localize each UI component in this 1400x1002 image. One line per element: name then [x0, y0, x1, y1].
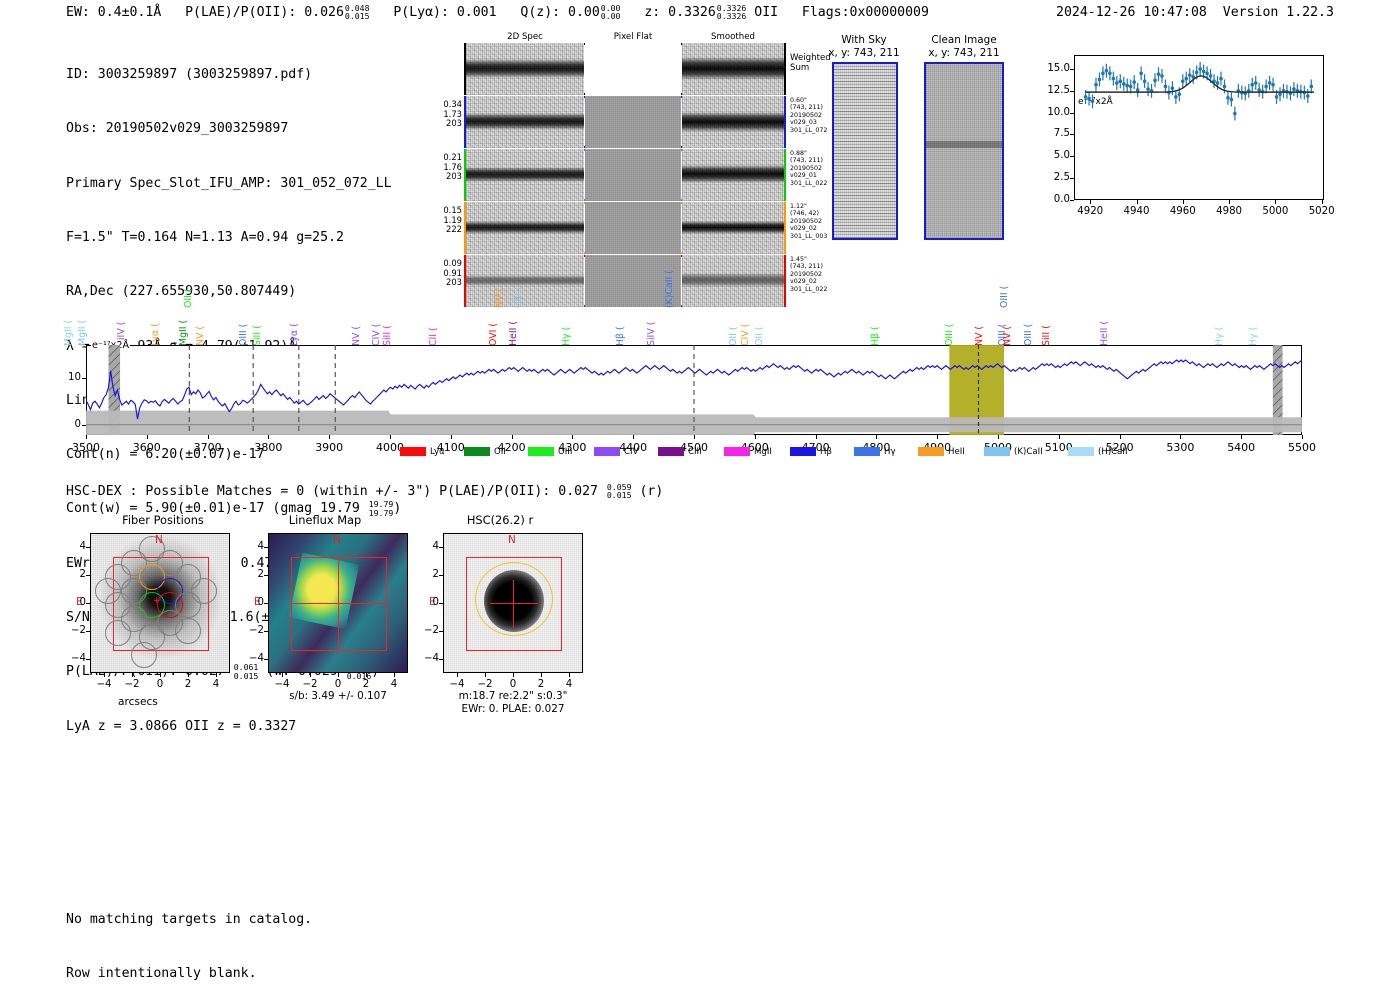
- legend-swatch: [400, 447, 426, 456]
- panel-ytick: −4: [240, 653, 264, 664]
- panel-ytick: −2: [62, 625, 86, 636]
- line-fit-plot[interactable]: e⁻¹⁷x2Å 0.02.55.07.510.012.515.0 4920494…: [1030, 40, 1330, 245]
- hsc-r-panel[interactable]: N E 420−2−4−4−2024 m:18.7 re:2.2" s:0.3"…: [415, 528, 605, 728]
- emission-line-label: CIII (: [513, 287, 543, 308]
- compass-n-label: N: [508, 534, 516, 546]
- panel-ytick: 4: [240, 541, 264, 552]
- header-timestamp-version: 2024-12-26 10:47:08 Version 1.22.3: [1056, 5, 1334, 20]
- spectrum-ytick: 0: [51, 419, 81, 430]
- panel-ytick: 2: [240, 569, 264, 580]
- emission-line-labels: MgII (MgII (SiIV (Lyα (MgII (OII (NV (OI…: [85, 278, 1301, 346]
- line-fit-ytick: 12.5: [1036, 85, 1070, 96]
- panel-ytick: 0: [62, 597, 86, 608]
- emission-line-label: OII (: [183, 288, 213, 308]
- header-flags: Flags:0x00000009: [802, 5, 929, 20]
- legend-label: Hγ: [884, 447, 896, 457]
- lineflux-map-title: Lineflux Map: [230, 513, 420, 527]
- line-fit-xtick: 4960: [1163, 206, 1203, 217]
- spec2d-cell-pixelflat: [585, 96, 681, 148]
- emission-line-label: OIII (: [999, 286, 1029, 308]
- panel-xtick: 4: [200, 679, 232, 690]
- spec2d-row-3-left-labels: 0.151.19222: [438, 206, 462, 235]
- compass-n-label: N: [333, 534, 341, 546]
- footer-note: No matching targets in catalog. Row inte…: [66, 875, 312, 1002]
- line-fit-xtick: 5000: [1255, 206, 1295, 217]
- legend-label: (K)CaII: [1014, 447, 1043, 457]
- legend-swatch: [658, 447, 684, 456]
- emission-line-label: SiII (: [382, 325, 417, 346]
- info-seeing: F=1.5" T=0.164 N=1.13 A=0.94 g=25.2: [66, 229, 401, 247]
- line-fit-ytick: 5.0: [1036, 150, 1070, 161]
- header-plae-poii: P(LAE)/P(OII): 0.0260.0480.015: [185, 5, 369, 20]
- spectrum-xtick: 5300: [1156, 441, 1204, 454]
- spectrum-xtick: 3800: [244, 441, 292, 454]
- panel-ytick: 4: [415, 541, 439, 552]
- version-label: Version 1.22.3: [1223, 5, 1334, 20]
- spectrum-xtick: 3700: [184, 441, 232, 454]
- legend-swatch: [918, 447, 944, 456]
- spec2d-row-1-left-labels: 0.341.73203: [438, 100, 462, 129]
- spectrum-xtick: 3500: [62, 441, 110, 454]
- spec2d-cell-smoothed: [682, 149, 784, 201]
- panel-xtick: 4: [553, 679, 585, 690]
- legend-label: HeII: [948, 447, 965, 457]
- emission-line-label: Hβ (: [870, 326, 905, 346]
- line-fit-xtick: 4940: [1117, 206, 1157, 217]
- header-qz: Q(z): 0.000.000.00: [520, 5, 620, 20]
- panel-xtick: 4: [378, 679, 410, 690]
- legend-label: (H)CaII: [1098, 447, 1128, 457]
- spectrum-xtick: 3600: [123, 441, 171, 454]
- spec2d-col-header-2dspec: 2D Spec: [466, 32, 584, 42]
- spectrum-xtick: 5400: [1217, 441, 1265, 454]
- spec2d-cell-2dspec: [466, 149, 584, 201]
- panel-ytick: 2: [415, 569, 439, 580]
- spectrum-xtick: 5500: [1278, 441, 1326, 454]
- legend-swatch: [790, 447, 816, 456]
- panel-ytick: −2: [240, 625, 264, 636]
- spec2d-cell-pixelflat: [585, 43, 681, 95]
- clean-image-cutout[interactable]: [924, 62, 1004, 240]
- spec2d-cell-smoothed: [682, 96, 784, 148]
- info-obs: Obs: 20190502v029_3003259897: [66, 120, 401, 138]
- spectrum-xtick: 4300: [548, 441, 596, 454]
- legend-swatch: [528, 447, 554, 456]
- panel-ytick: 0: [415, 597, 439, 608]
- line-fit-xtick: 4920: [1070, 206, 1110, 217]
- lineflux-map-panel[interactable]: N E 420−2−4−4−2024 s/b: 3.49 +/- 0.107: [240, 528, 430, 718]
- lineflux-map-caption: s/b: 3.49 +/- 0.107: [248, 690, 428, 703]
- with-sky-title: With Skyx, y: 743, 211: [818, 34, 910, 59]
- spec2d-col-header-smoothed: Smoothed: [682, 32, 784, 42]
- panel-ytick: −4: [62, 653, 86, 664]
- spec2d-row-weighted-sum[interactable]: WeightedSum: [464, 43, 786, 95]
- spectrum-ytick: 10: [51, 372, 81, 383]
- legend-label: OIII: [558, 447, 572, 457]
- legend-swatch: [724, 447, 750, 456]
- full-spectrum-plot[interactable]: MgII (MgII (SiIV (Lyα (MgII (OII (NV (OI…: [85, 278, 1305, 468]
- legend-swatch: [1068, 447, 1094, 456]
- hsc-r-title: HSC(26.2) r: [405, 513, 595, 527]
- emission-line-label: (K)CaII (: [664, 270, 694, 308]
- header-ew: EW: 0.4±0.1Å: [66, 5, 161, 20]
- fiber-positions-panel[interactable]: + N E 420−2−4−4−2024 arcsecs: [60, 528, 260, 718]
- spec2d-cell-smoothed: [682, 43, 784, 95]
- info-id: ID: 3003259897 (3003259897.pdf): [66, 66, 401, 84]
- clean-image-title: Clean Imagex, y: 743, 211: [918, 34, 1010, 59]
- emission-line-label: Hγ (: [1248, 327, 1283, 346]
- fiber-positions-xlabel: arcsecs: [118, 696, 158, 708]
- spec2d-cell-pixelflat: [585, 202, 681, 254]
- header-z: z: 0.33260.33260.3326 OII: [644, 5, 778, 20]
- emission-line-label: HeII (: [508, 321, 543, 346]
- legend-swatch: [854, 447, 880, 456]
- line-fit-ytick: 0.0: [1036, 194, 1070, 205]
- with-sky-cutout[interactable]: [832, 62, 898, 240]
- legend-label: OII: [494, 447, 506, 457]
- emission-line-label: Hγ (: [1214, 327, 1249, 346]
- spec2d-cell-2dspec: [466, 96, 584, 148]
- compass-n-label: N: [155, 534, 163, 546]
- footer-line-2: Row intentionally blank.: [66, 965, 312, 983]
- line-fit-ytick: 2.5: [1036, 172, 1070, 183]
- timestamp: 2024-12-26 10:47:08: [1056, 5, 1207, 20]
- hsc-r-caption: m:18.7 re:2.2" s:0.3"EWr: 0. PLAE: 0.027: [423, 690, 603, 715]
- emission-line-label: NV (: [195, 326, 230, 346]
- line-fit-xtick: 5020: [1302, 206, 1342, 217]
- info-redshifts: LyA z = 3.0866 OII z = 0.3327: [66, 718, 401, 736]
- emission-line-label: Hγ (: [561, 327, 596, 346]
- emission-line-label: HeII (: [1099, 321, 1134, 346]
- spec2d-cell-smoothed: [682, 202, 784, 254]
- panel-ytick: −4: [415, 653, 439, 664]
- panel-ytick: 2: [62, 569, 86, 580]
- spec2d-cell-pixelflat: [585, 149, 681, 201]
- spec2d-panel-group: 2D Spec Pixel Flat Smoothed WeightedSum …: [440, 32, 810, 244]
- spec2d-row-2-left-labels: 0.211.76203: [438, 153, 462, 182]
- legend-label: Lyα: [430, 447, 445, 457]
- legend-label: CIII: [688, 447, 702, 457]
- emission-line-label: Lyα (: [289, 323, 324, 346]
- panel-ytick: 4: [62, 541, 86, 552]
- emission-line-label: SiII (: [252, 325, 287, 346]
- line-fit-xtick: 4980: [1209, 206, 1249, 217]
- legend-label: CIV: [624, 447, 638, 457]
- hscdex-summary-line: HSC-DEX : Possible Matches = 0 (within +…: [66, 483, 663, 499]
- line-fit-ytick: 15.0: [1036, 63, 1070, 74]
- spec2d-cell-2dspec: [466, 43, 584, 95]
- legend-label: MgII: [754, 447, 772, 457]
- legend-swatch: [594, 447, 620, 456]
- line-fit-ytick: 10.0: [1036, 107, 1070, 118]
- legend-swatch: [984, 447, 1010, 456]
- spec2d-row-3[interactable]: 0.151.19222 1.12"(746, 42)20190502v029_0…: [464, 202, 786, 254]
- line-fit-ytick: 7.5: [1036, 128, 1070, 139]
- info-primary-spec: Primary Spec_Slot_IFU_AMP: 301_052_072_L…: [66, 175, 401, 193]
- header-summary-line: EW: 0.4±0.1Å P(LAE)/P(OII): 0.0260.0480.…: [66, 4, 929, 20]
- emission-line-label: CII (: [428, 327, 463, 346]
- emission-line-label: SiII (: [1041, 325, 1076, 346]
- panel-ytick: 0: [240, 597, 264, 608]
- spectrum-xtick: 3900: [305, 441, 353, 454]
- spec2d-row-1[interactable]: 0.341.73203 0.60"(743, 211)20190502v029_…: [464, 96, 786, 148]
- spec2d-cell-2dspec: [466, 202, 584, 254]
- emission-line-label: OII (: [754, 326, 789, 346]
- panel-ytick: −2: [415, 625, 439, 636]
- spec2d-row-2[interactable]: 0.211.76203 0.88"(743, 211)20190502v029_…: [464, 149, 786, 201]
- emission-line-label: SiIV (: [646, 322, 681, 346]
- legend-label: Hβ: [820, 447, 832, 457]
- header-plya: P(Lyα): 0.001: [393, 5, 496, 20]
- footer-line-1: No matching targets in catalog.: [66, 911, 312, 929]
- legend-swatch: [464, 447, 490, 456]
- spec2d-col-header-pixelflat: Pixel Flat: [585, 32, 681, 42]
